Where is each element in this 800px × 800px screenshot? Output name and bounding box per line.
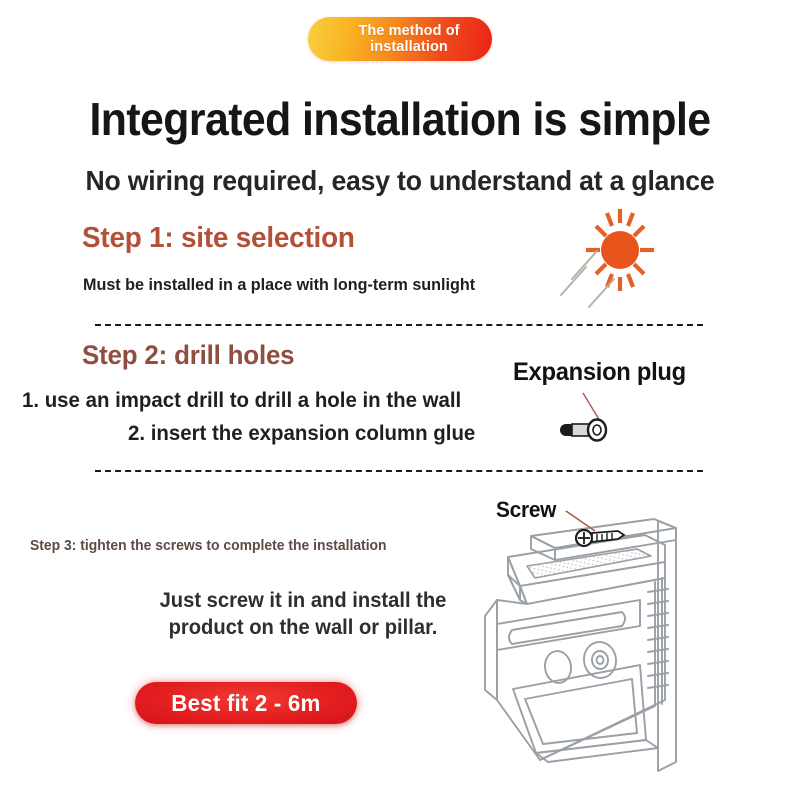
- closing-statement: Just screw it in and install the product…: [135, 588, 471, 642]
- step-3-title: Step 3: tighten the screws to complete t…: [30, 538, 387, 554]
- lamp-front-face: [497, 578, 665, 760]
- section-divider-1: [95, 324, 703, 326]
- solar-panel: [527, 549, 651, 578]
- light-sensor: [543, 649, 573, 684]
- sun-icon: [586, 209, 654, 291]
- infographic-page: The method of installation Integrated in…: [0, 0, 800, 800]
- expansion-plug-leader-line: [583, 393, 600, 421]
- sunlight-beam-icon: [561, 251, 614, 307]
- section-divider-2: [95, 470, 703, 472]
- best-fit-badge-label: Best fit 2 - 6m: [171, 690, 320, 717]
- solar-panel-frame: [508, 535, 665, 586]
- step-2-instruction-1: 1. use an impact drill to drill a hole i…: [22, 388, 461, 413]
- best-fit-badge: Best fit 2 - 6m: [135, 682, 357, 724]
- step-2-instruction-2: 2. insert the expansion column glue: [128, 421, 475, 446]
- step-1-detail: Must be installed in a place with long-t…: [83, 275, 475, 295]
- method-of-installation-badge-label: The method of installation: [340, 23, 459, 55]
- expansion-plug-icon: [560, 393, 606, 441]
- back-plate: [658, 521, 676, 771]
- screw-icon: [566, 511, 624, 546]
- page-title: Integrated installation is simple: [28, 92, 772, 146]
- page-subtitle: No wiring required, easy to understand a…: [20, 165, 780, 197]
- step-2-title: Step 2: drill holes: [82, 340, 294, 371]
- led-light-strip: [509, 612, 625, 644]
- expansion-plug-callout-label: Expansion plug: [513, 358, 686, 387]
- method-of-installation-badge: The method of installation: [308, 17, 492, 61]
- lamp-face-panel: [513, 665, 646, 753]
- led-strip-housing: [497, 600, 640, 650]
- screw-callout-label: Screw: [496, 497, 556, 523]
- closing-line-2: product on the wall or pillar.: [169, 616, 438, 639]
- step-1-title: Step 1: site selection: [82, 222, 355, 255]
- sun-disc: [601, 231, 639, 269]
- solar-wall-lamp-illustration: [485, 519, 676, 771]
- screw-leader-line: [566, 511, 595, 531]
- badge-line-1: The method of: [358, 23, 459, 39]
- badge-line-2: installation: [370, 39, 448, 55]
- mounting-bracket: [531, 519, 676, 548]
- motion-sensor: [582, 640, 619, 680]
- closing-line-1: Just screw it in and install the: [160, 589, 447, 612]
- cooling-fins: [648, 589, 668, 688]
